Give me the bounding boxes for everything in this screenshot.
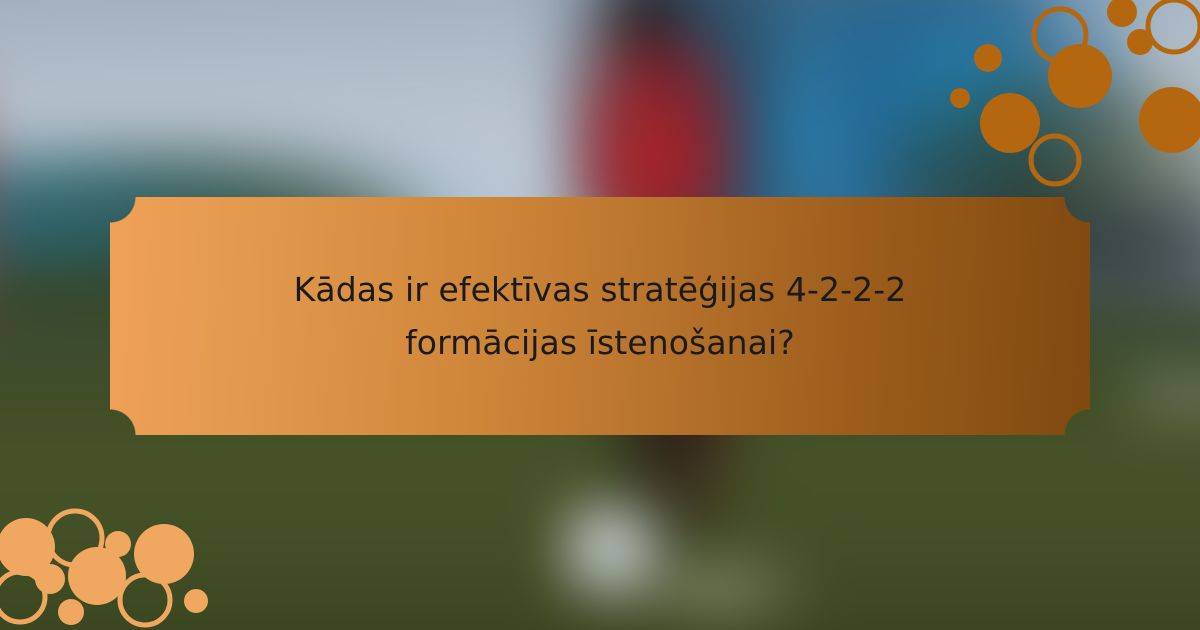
dot-outline <box>0 572 45 622</box>
dot-filled <box>68 547 126 605</box>
headline-text: Kādas ir efektīvas stratēģijas 4-2-2-2 f… <box>270 263 930 370</box>
dot-filled <box>950 88 970 108</box>
dot-outline <box>1031 136 1079 184</box>
dot-filled <box>1107 0 1137 27</box>
dot-filled <box>980 93 1040 153</box>
background-soccer-ball <box>565 506 663 601</box>
social-card-canvas: Kādas ir efektīvas stratēģijas 4-2-2-2 f… <box>0 0 1200 630</box>
dot-filled <box>974 44 1002 72</box>
dot-filled <box>1139 87 1200 153</box>
dot-filled <box>58 599 84 625</box>
dot-filled <box>1048 44 1112 108</box>
dot-cluster-top-right <box>950 0 1200 190</box>
dot-outline <box>120 575 170 625</box>
headline-card-content: Kādas ir efektīvas stratēģijas 4-2-2-2 f… <box>110 197 1090 435</box>
headline-card: Kādas ir efektīvas stratēģijas 4-2-2-2 f… <box>110 197 1090 435</box>
dot-cluster-top-right-svg <box>950 0 1200 190</box>
background-pitch-line <box>1132 363 1200 427</box>
dot-filled <box>184 589 208 613</box>
dot-cluster-bottom-left-svg <box>0 500 225 630</box>
dot-cluster-bottom-left <box>0 500 225 630</box>
dot-outline <box>1148 0 1200 52</box>
